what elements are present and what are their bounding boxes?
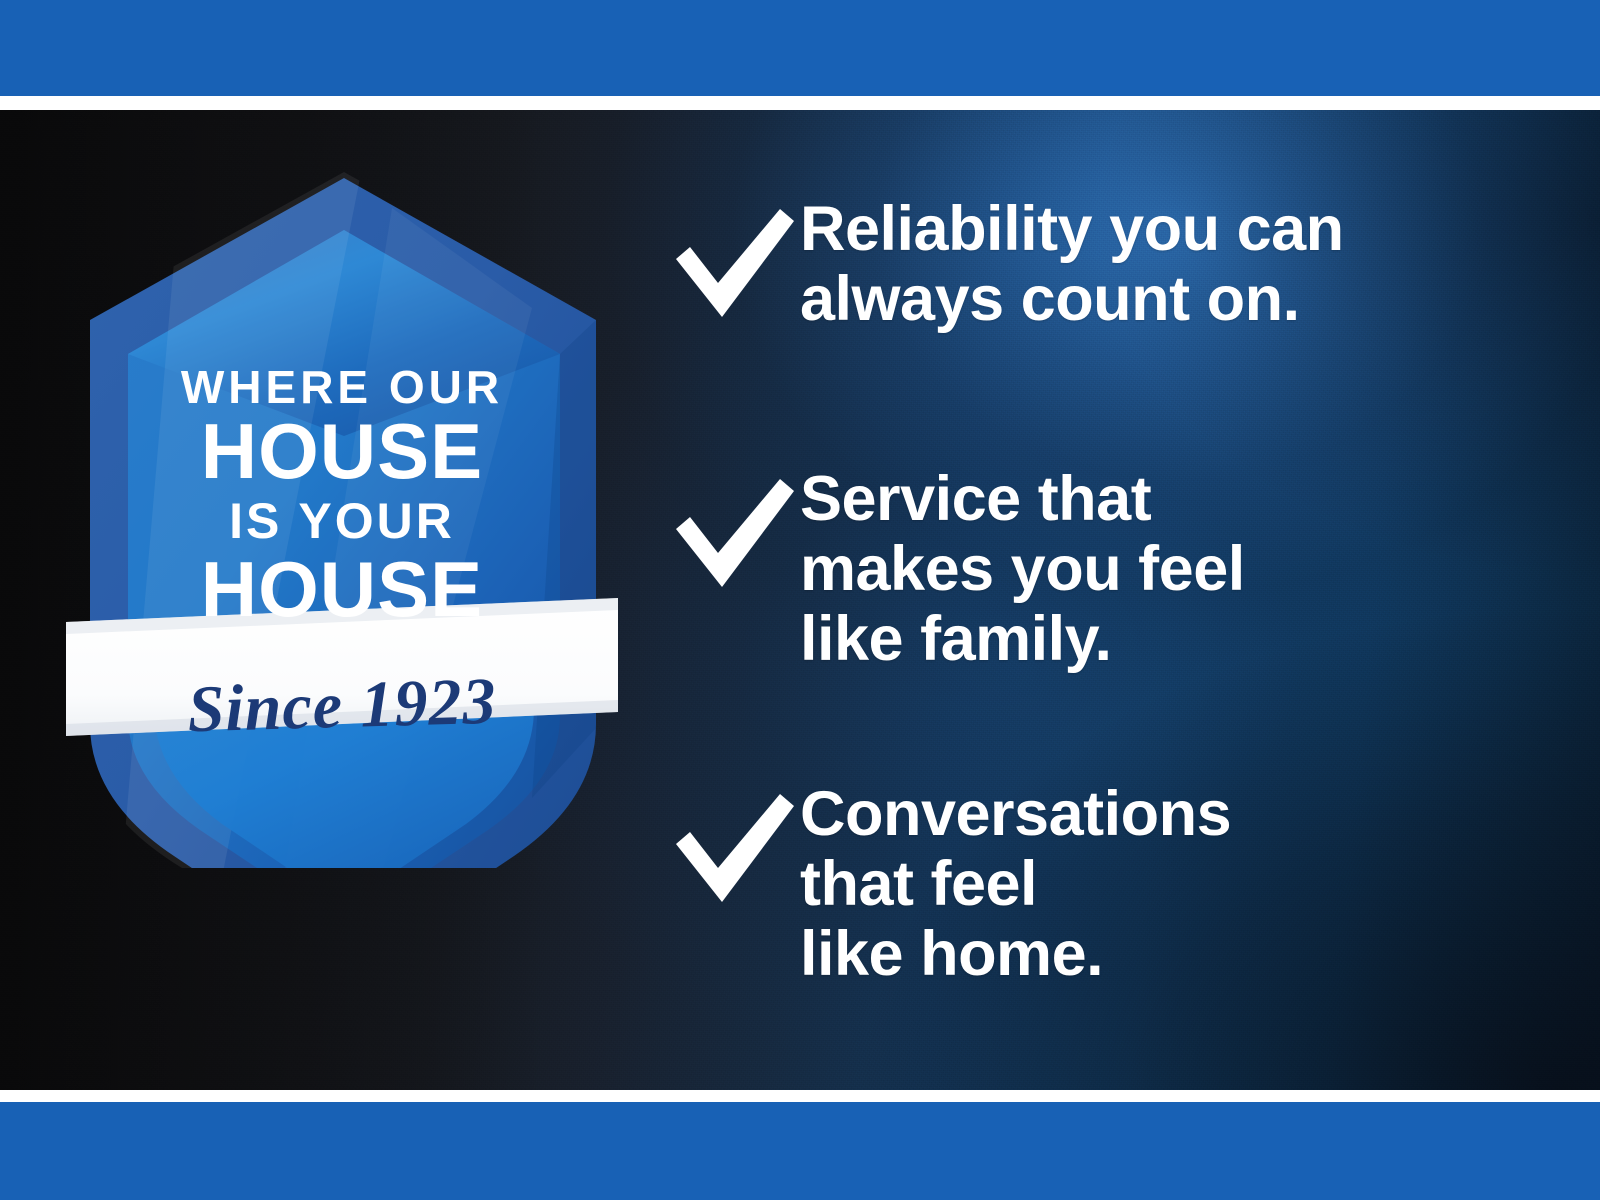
list-item-text: Service that makes you feel like family. bbox=[800, 465, 1245, 675]
top-white-divider bbox=[0, 96, 1600, 110]
bottom-accent-bar bbox=[0, 1102, 1600, 1200]
list-item: Reliability you can always count on. bbox=[668, 195, 1344, 335]
top-accent-bar bbox=[0, 0, 1600, 96]
promo-banner: WHERE OUR HOUSE IS YOUR HOUSE Since 1923… bbox=[0, 0, 1600, 1200]
check-icon bbox=[668, 195, 800, 329]
bottom-white-divider bbox=[0, 1090, 1600, 1102]
shield-logo: WHERE OUR HOUSE IS YOUR HOUSE Since 1923 bbox=[62, 168, 622, 868]
list-item-text: Reliability you can always count on. bbox=[800, 195, 1344, 335]
check-icon bbox=[668, 780, 800, 914]
list-item: Conversations that feel like home. bbox=[668, 780, 1231, 990]
shield-icon bbox=[62, 168, 622, 868]
list-item-text: Conversations that feel like home. bbox=[800, 780, 1231, 990]
list-item: Service that makes you feel like family. bbox=[668, 465, 1245, 675]
check-icon bbox=[668, 465, 800, 599]
